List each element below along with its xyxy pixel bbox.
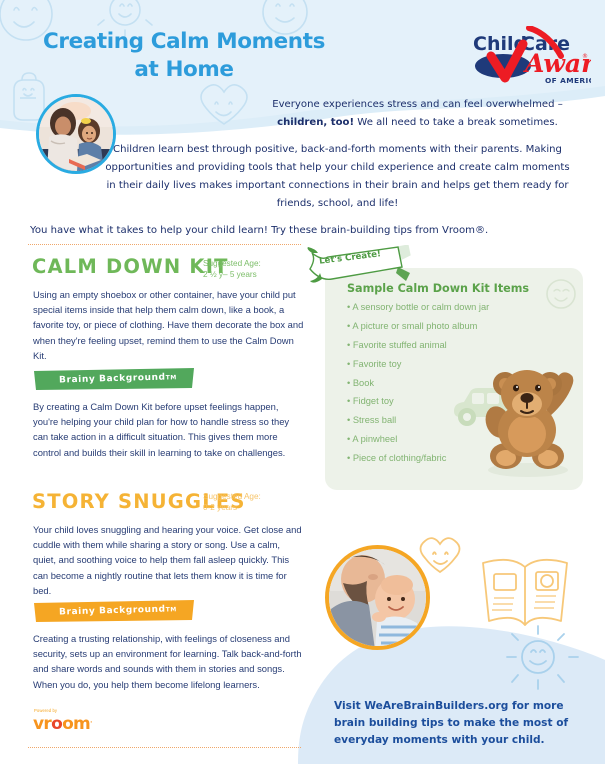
sample-items-title: Sample Calm Down Kit Items [347, 282, 529, 295]
page-title: Creating Calm Moments at Home [34, 28, 334, 84]
brainy-background-body-2: Creating a trusting relationship, with f… [33, 631, 305, 692]
svg-text:Aware: Aware [523, 49, 591, 78]
intro-p1-bold: children, too! [277, 117, 354, 128]
section-heading-calm-down-kit: CALM DOWN KIT [32, 255, 229, 278]
list-item: Favorite stuffed animal [347, 341, 562, 350]
intro-p1-c: We all need to take a break sometimes. [354, 117, 558, 128]
visit-call-to-action: Visit WeAreBrainBuilders.org for more br… [334, 698, 589, 749]
brainy-background-badge-green: Brainy BackgroundTM [34, 368, 194, 390]
intro-p1-a: Everyone experiences stress and can feel… [272, 99, 563, 110]
flyer-page: Creating Calm Moments at Home Child Care… [0, 0, 605, 764]
badge-text-1: Brainy Background [59, 373, 166, 386]
teddy-bear-illustration [480, 350, 576, 480]
list-item: A sensory bottle or calm down jar [347, 303, 562, 312]
title-line-2: at Home [34, 56, 334, 84]
age-label-2: Suggested Age: [203, 492, 261, 501]
age-value-2: 0-2 years [203, 503, 237, 512]
brainy-background-body-1: By creating a Calm Down Kit before upset… [33, 399, 305, 460]
svg-text:®: ® [582, 53, 588, 60]
suggested-age-story-snuggles: Suggested Age: 0-2 years [203, 491, 283, 514]
vroom-logo: Powered by vroom. [33, 708, 93, 738]
vroom-vr: vr [33, 714, 51, 734]
brainy-background-badge-orange: Brainy BackgroundTM [34, 600, 194, 622]
list-item: A picture or small photo album [347, 322, 562, 331]
brainy-background-label-green: Brainy BackgroundTM [34, 366, 195, 392]
vroom-wordmark: vroom. [33, 714, 92, 734]
vroom-om: om [62, 714, 90, 734]
suggested-age-calm-down-kit: Suggested Age: 2 ½ y– 5 years [203, 258, 283, 281]
section-body-story-snuggles: Your child loves snuggling and hearing y… [33, 522, 305, 598]
age-label-1: Suggested Age: [203, 259, 261, 268]
intro-paragraph-2: Children learn best through positive, ba… [30, 141, 575, 213]
badge-tm-2: TM [166, 606, 177, 613]
title-line-1: Creating Calm Moments [43, 29, 325, 54]
powered-by-label: Powered by [34, 708, 57, 713]
brainy-background-label-orange: Brainy BackgroundTM [34, 598, 195, 624]
svg-text:OF AMERICA: OF AMERICA [545, 76, 591, 85]
childcare-aware-logo: Child Care Aware ® OF AMERICA [471, 26, 591, 88]
section-divider-top [28, 244, 301, 245]
vroom-tm: . [90, 717, 92, 724]
father-and-baby-photo [325, 545, 430, 650]
brain-builders-url-link[interactable]: WeAreBrainBuilders.org [364, 700, 508, 712]
age-value-1: 2 ½ y– 5 years [203, 270, 257, 279]
intro-text: Everyone experiences stress and can feel… [30, 96, 575, 249]
section-divider-bottom [28, 747, 301, 748]
visit-prefix: Visit [334, 700, 364, 712]
section-body-calm-down-kit: Using an empty shoebox or other containe… [33, 287, 305, 363]
intro-paragraph-3: You have what it takes to help your chil… [30, 222, 575, 240]
intro-paragraph-1: Everyone experiences stress and can feel… [30, 96, 575, 132]
badge-tm-1: TM [166, 374, 177, 381]
vroom-o: o [51, 714, 62, 734]
badge-text-2: Brainy Background [59, 605, 166, 618]
